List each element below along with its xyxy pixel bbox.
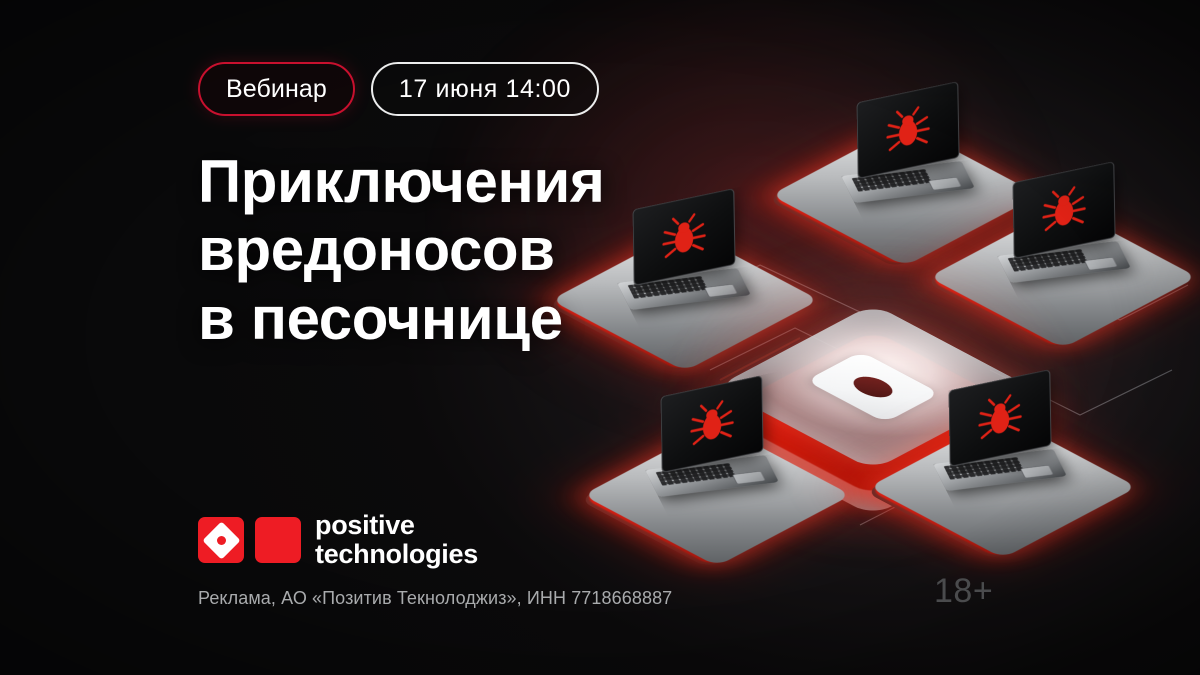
laptop-node-bottom-right xyxy=(908,392,1098,582)
badge-webinar[interactable]: Вебинар xyxy=(198,62,355,116)
diamond-shape xyxy=(202,521,240,559)
bug-icon xyxy=(1041,182,1087,238)
pt-diamond-mark-icon xyxy=(198,517,244,563)
badge-datetime[interactable]: 17 июня 14:00 xyxy=(371,62,599,116)
brand-wordmark: positive technologies xyxy=(315,511,478,569)
wordmark-line-2: technologies xyxy=(315,540,478,569)
content-column: Вебинар 17 июня 14:00 Приключения вредон… xyxy=(198,0,758,675)
logo-marks xyxy=(198,517,301,563)
laptop xyxy=(842,92,972,212)
bug-icon xyxy=(977,390,1023,446)
legal-disclaimer: Реклама, АО «Позитив Текнолоджиз», ИНН 7… xyxy=(198,588,672,609)
brand-logo: positive technologies xyxy=(198,511,478,569)
laptop-keyboard-deck xyxy=(933,449,1067,491)
diamond-center-dot xyxy=(217,536,226,545)
laptop-trackpad xyxy=(1020,465,1054,478)
laptop xyxy=(934,380,1064,500)
bug-icon xyxy=(885,102,931,158)
laptop-trackpad xyxy=(928,177,962,190)
badge-row: Вебинар 17 июня 14:00 xyxy=(198,62,599,116)
age-rating-badge: 18+ xyxy=(934,572,993,611)
sandbox-emblem-dot xyxy=(846,373,900,401)
headline-line-3: в песочнице xyxy=(198,285,604,353)
promo-banner: Вебинар 17 июня 14:00 Приключения вредон… xyxy=(0,0,1200,675)
wordmark-line-1: positive xyxy=(315,511,478,540)
laptop-keys xyxy=(943,457,1024,480)
pt-square-mark-icon xyxy=(255,517,301,563)
laptop-screen xyxy=(948,369,1051,467)
page-title: Приключения вредоносов в песочнице xyxy=(198,148,604,353)
laptop-trackpad xyxy=(1084,257,1118,270)
headline-line-1: Приключения xyxy=(198,148,604,216)
laptop-screen xyxy=(856,81,959,179)
headline-line-2: вредоносов xyxy=(198,216,604,284)
laptop-keys xyxy=(851,169,932,192)
